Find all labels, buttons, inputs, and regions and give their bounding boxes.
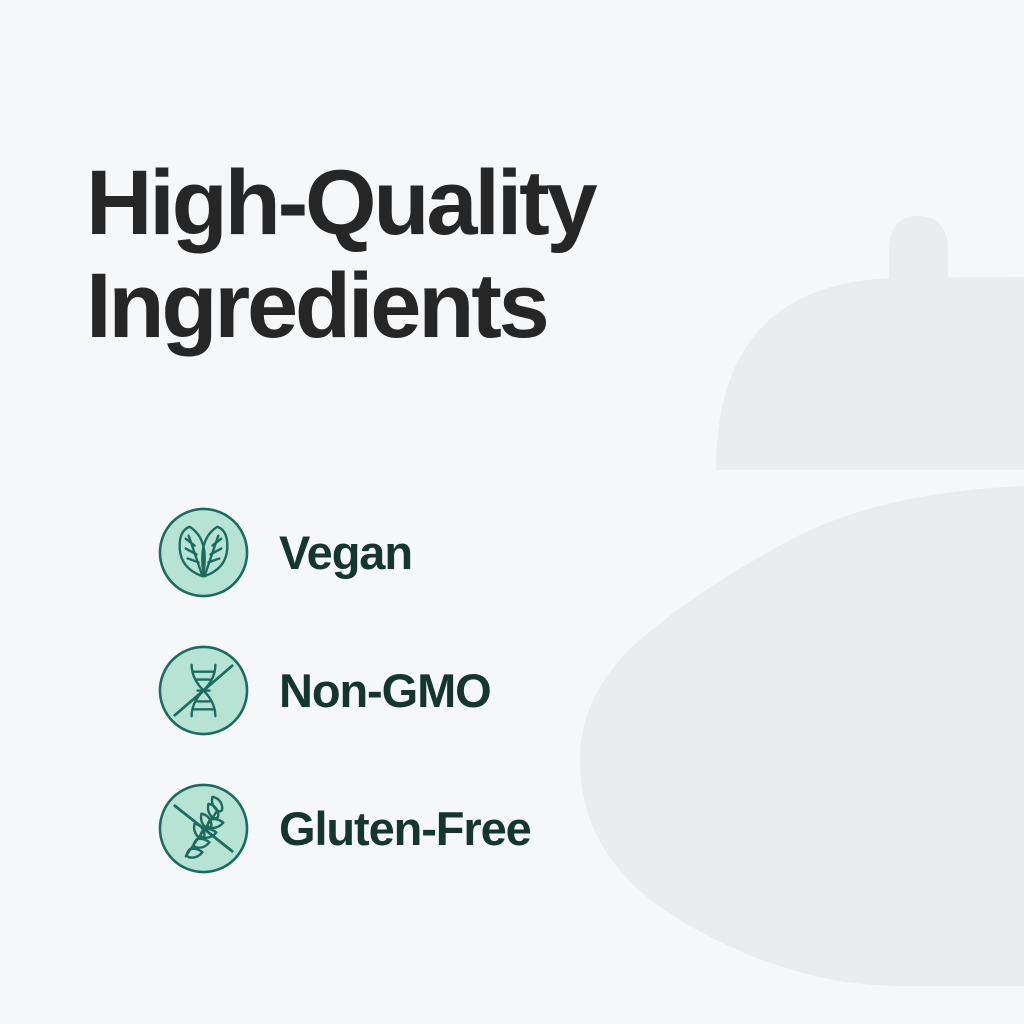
no-wheat-icon <box>156 781 251 876</box>
feature-list: Vegan Non-GMO <box>156 505 531 876</box>
list-item: Vegan <box>156 505 531 600</box>
ingredients-poster: High-Quality Ingredients <box>0 0 1024 1024</box>
list-item: Non-GMO <box>156 643 531 738</box>
dome-knob-shape <box>889 216 948 296</box>
list-item: Gluten-Free <box>156 781 531 876</box>
feature-label: Gluten-Free <box>279 805 531 852</box>
plate-blob-shape <box>580 486 1024 986</box>
leaves-icon <box>156 505 251 600</box>
feature-label: Vegan <box>279 529 412 576</box>
dome-lid-shape <box>716 277 1024 470</box>
no-dna-icon <box>156 643 251 738</box>
feature-label: Non-GMO <box>279 667 491 714</box>
page-title: High-Quality Ingredients <box>86 152 726 358</box>
